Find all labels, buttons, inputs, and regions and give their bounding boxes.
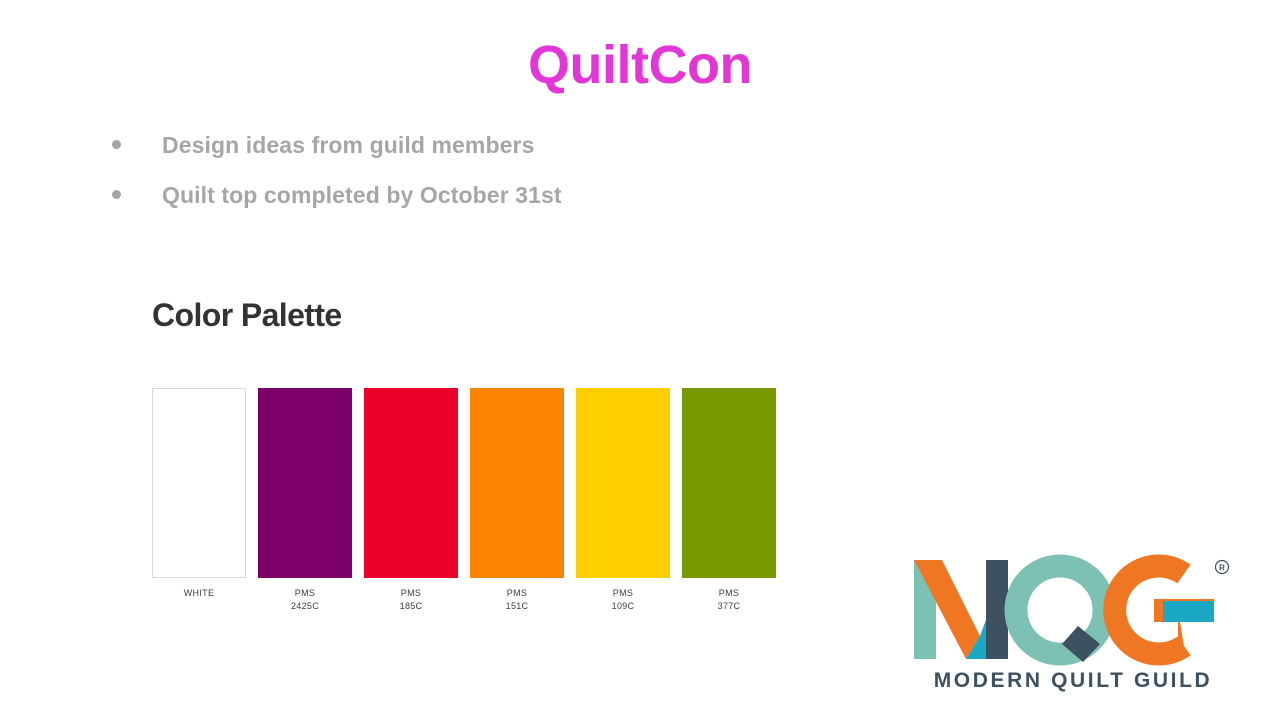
color-code: 185C	[400, 600, 423, 613]
mqg-logo-mark: R	[908, 552, 1238, 667]
color-name: WHITE	[184, 588, 215, 598]
color-name: PMS	[507, 588, 527, 598]
color-swatch-label: PMS 377C	[718, 587, 741, 613]
slide-canvas: QuiltCon Design ideas from guild members…	[0, 0, 1280, 720]
mqg-wordmark: MODERN QUILT GUILD	[908, 670, 1238, 691]
color-swatch-pms-2425c: PMS 2425C	[258, 388, 352, 613]
color-chip	[258, 388, 352, 578]
bullet-list: Design ideas from guild members Quilt to…	[112, 132, 872, 231]
color-name: PMS	[295, 588, 315, 598]
color-swatch-pms-185c: PMS 185C	[364, 388, 458, 613]
bullet-dot-icon	[112, 190, 121, 199]
bullet-text: Quilt top completed by October 31st	[162, 182, 562, 210]
color-code: 2425C	[291, 600, 319, 613]
color-swatch-label: PMS 2425C	[291, 587, 319, 613]
color-swatch-white: WHITE	[152, 388, 246, 613]
list-item: Quilt top completed by October 31st	[112, 182, 872, 210]
color-swatch-label: WHITE	[184, 587, 215, 600]
bullet-text: Design ideas from guild members	[162, 132, 534, 160]
list-item: Design ideas from guild members	[112, 132, 872, 160]
color-swatch-pms-151c: PMS 151C	[470, 388, 564, 613]
color-chip	[682, 388, 776, 578]
color-swatch-pms-377c: PMS 377C	[682, 388, 776, 613]
color-swatch-label: PMS 151C	[506, 587, 529, 613]
color-swatch-row: WHITE PMS 2425C PMS 185C	[152, 388, 812, 613]
page-title: QuiltCon	[0, 36, 1280, 95]
color-swatch-pms-109c: PMS 109C	[576, 388, 670, 613]
color-chip	[364, 388, 458, 578]
color-chip	[576, 388, 670, 578]
color-name: PMS	[719, 588, 739, 598]
color-chip	[152, 388, 246, 578]
color-name: PMS	[401, 588, 421, 598]
mqg-logo: R MODERN QUILT GUILD	[908, 552, 1238, 702]
color-name: PMS	[613, 588, 633, 598]
color-code: 377C	[718, 600, 741, 613]
color-palette-heading: Color Palette	[152, 298, 812, 333]
svg-text:R: R	[1219, 564, 1225, 573]
color-swatch-label: PMS 185C	[400, 587, 423, 613]
color-code: 109C	[612, 600, 635, 613]
color-code: 151C	[506, 600, 529, 613]
color-swatch-label: PMS 109C	[612, 587, 635, 613]
color-palette-block: Color Palette WHITE PMS 2425C PMS	[152, 298, 812, 613]
color-chip	[470, 388, 564, 578]
bullet-dot-icon	[112, 140, 121, 149]
